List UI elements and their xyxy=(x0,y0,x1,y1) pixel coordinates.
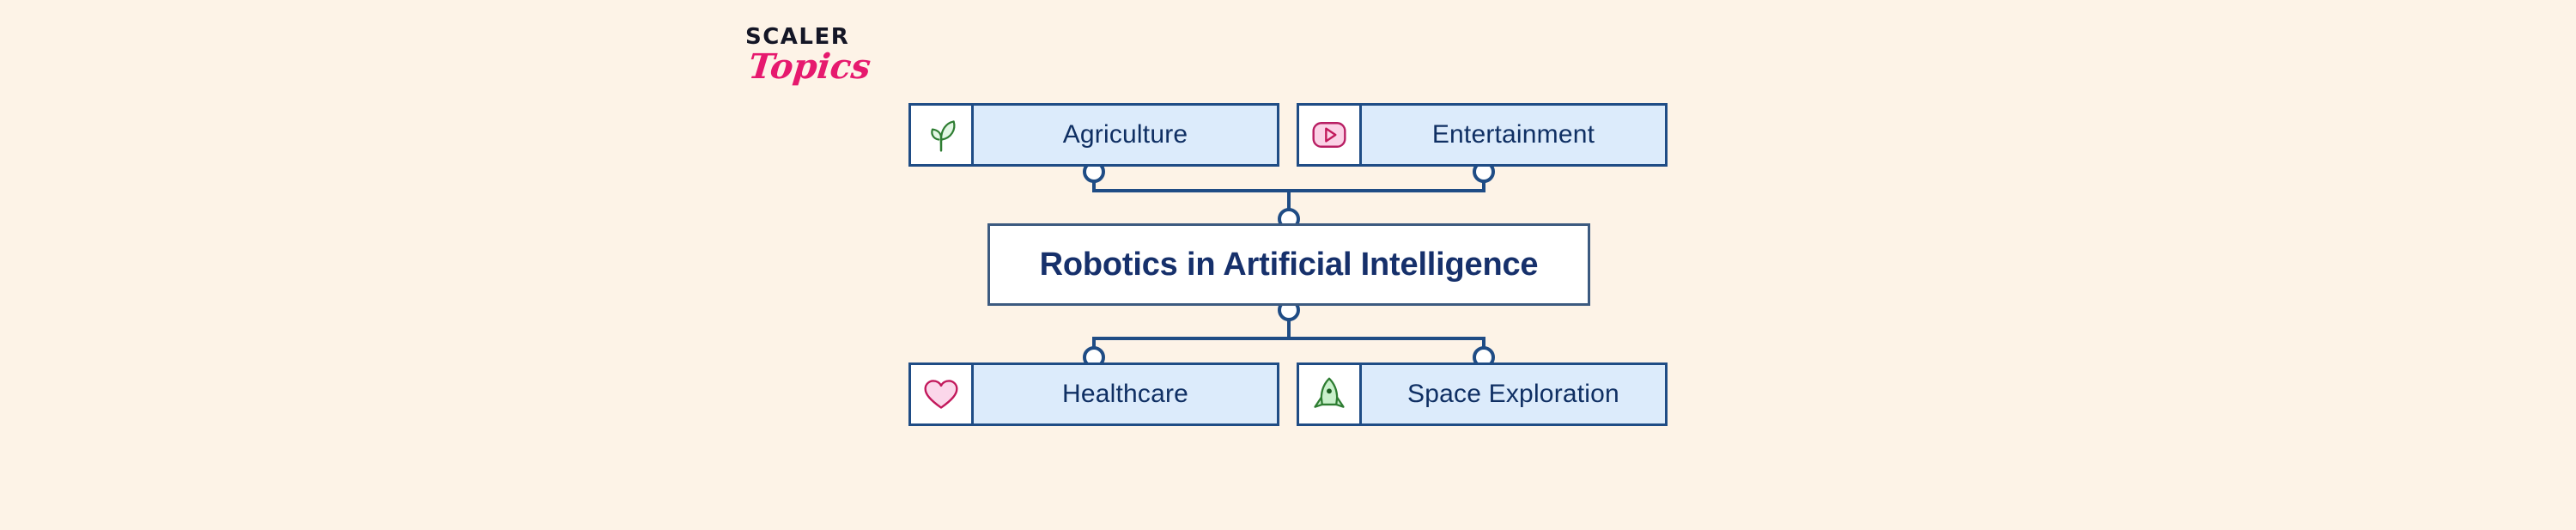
rocket-icon xyxy=(1299,365,1362,423)
heart-icon xyxy=(911,365,974,423)
node-space-exploration[interactable]: Space Exploration xyxy=(1297,362,1668,426)
node-entertainment[interactable]: Entertainment xyxy=(1297,103,1668,167)
node-healthcare[interactable]: Healthcare xyxy=(908,362,1279,426)
node-label-healthcare: Healthcare xyxy=(974,365,1277,423)
node-agriculture[interactable]: Agriculture xyxy=(908,103,1279,167)
node-label-agriculture: Agriculture xyxy=(974,106,1277,164)
mind-map-diagram: Agriculture Entertainment Robotics in Ar… xyxy=(0,0,2576,530)
node-label-entertainment: Entertainment xyxy=(1362,106,1665,164)
seedling-icon xyxy=(911,106,974,164)
node-label-space-exploration: Space Exploration xyxy=(1362,365,1665,423)
play-button-icon xyxy=(1299,106,1362,164)
center-topic-label: Robotics in Artificial Intelligence xyxy=(1040,247,1539,283)
node-center-topic[interactable]: Robotics in Artificial Intelligence xyxy=(987,223,1590,306)
